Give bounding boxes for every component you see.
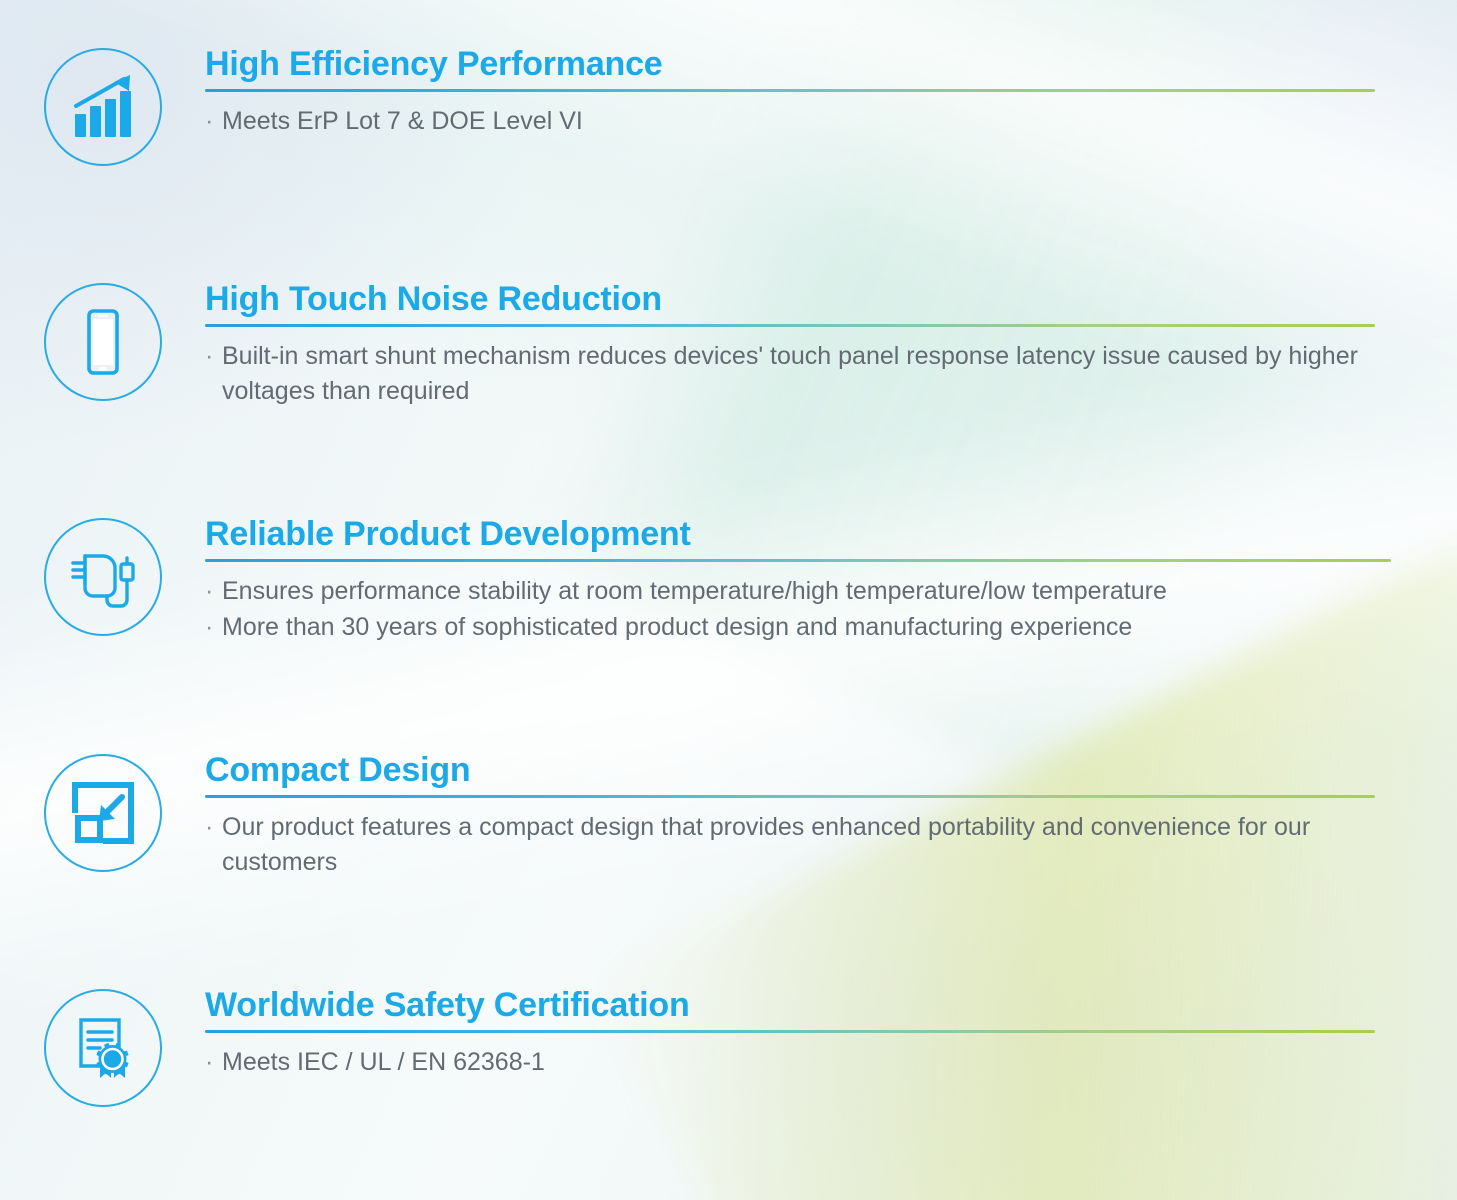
feature-row: Worldwide Safety Certification · Meets I… [0, 987, 1457, 1107]
feature-bullet-list: · Meets IEC / UL / EN 62368-1 [205, 1045, 1375, 1081]
feature-bullet: · Meets ErP Lot 7 & DOE Level VI [205, 104, 1375, 140]
feature-bullet-list: · Built-in smart shunt mechanism reduces… [205, 339, 1375, 410]
bullet-dot-icon: · [205, 610, 222, 646]
feature-bullet-text: Meets IEC / UL / EN 62368-1 [222, 1045, 1375, 1081]
bullet-dot-icon: · [205, 574, 222, 610]
feature-highlights-page: High Efficiency Performance · Meets ErP … [0, 0, 1457, 1200]
feature-divider [205, 795, 1375, 798]
feature-divider [205, 559, 1391, 562]
feature-divider [205, 324, 1375, 327]
compact-resize-icon [44, 754, 162, 872]
certificate-seal-icon [44, 989, 162, 1107]
feature-title: High Touch Noise Reduction [205, 281, 1375, 318]
feature-row: Reliable Product Development · Ensures p… [0, 516, 1457, 647]
smartphone-icon [44, 283, 162, 401]
feature-bullet-text: Meets ErP Lot 7 & DOE Level VI [222, 104, 1375, 140]
feature-divider [205, 89, 1375, 92]
feature-row: High Touch Noise Reduction · Built-in sm… [0, 281, 1457, 411]
feature-row: High Efficiency Performance · Meets ErP … [0, 46, 1457, 166]
feature-text-cell: High Efficiency Performance · Meets ErP … [205, 46, 1457, 140]
feature-icon-cell [0, 281, 205, 401]
feature-text-cell: Compact Design · Our product features a … [205, 752, 1457, 882]
feature-title: Worldwide Safety Certification [205, 987, 1375, 1024]
feature-bullet: · Built-in smart shunt mechanism reduces… [205, 339, 1375, 410]
feature-bullet: · Our product features a compact design … [205, 810, 1375, 881]
feature-bullet-text: Ensures performance stability at room te… [222, 574, 1391, 610]
feature-title: High Efficiency Performance [205, 46, 1375, 83]
bar-chart-growth-icon [44, 48, 162, 166]
feature-bullet-list: · Our product features a compact design … [205, 810, 1375, 881]
feature-title: Reliable Product Development [205, 516, 1391, 553]
feature-text-cell: High Touch Noise Reduction · Built-in sm… [205, 281, 1457, 411]
feature-bullet-text: Our product features a compact design th… [222, 810, 1375, 881]
bullet-dot-icon: · [205, 339, 222, 375]
feature-icon-cell [0, 987, 205, 1107]
feature-bullet: · More than 30 years of sophisticated pr… [205, 610, 1391, 646]
feature-icon-cell [0, 46, 205, 166]
bullet-dot-icon: · [205, 810, 222, 846]
feature-title: Compact Design [205, 752, 1375, 789]
feature-bullet-text: Built-in smart shunt mechanism reduces d… [222, 339, 1375, 410]
feature-bullet: · Meets IEC / UL / EN 62368-1 [205, 1045, 1375, 1081]
feature-icon-cell [0, 516, 205, 636]
bullet-dot-icon: · [205, 1045, 222, 1081]
feature-bullet-text: More than 30 years of sophisticated prod… [222, 610, 1391, 646]
feature-text-cell: Reliable Product Development · Ensures p… [205, 516, 1457, 647]
feature-row: Compact Design · Our product features a … [0, 752, 1457, 882]
feature-bullet-list: · Meets ErP Lot 7 & DOE Level VI [205, 104, 1375, 140]
feature-bullet-list: · Ensures performance stability at room … [205, 574, 1391, 646]
feature-bullet: · Ensures performance stability at room … [205, 574, 1391, 610]
feature-icon-cell [0, 752, 205, 872]
bullet-dot-icon: · [205, 104, 222, 140]
power-adapter-icon [44, 518, 162, 636]
feature-text-cell: Worldwide Safety Certification · Meets I… [205, 987, 1457, 1081]
feature-divider [205, 1030, 1375, 1033]
